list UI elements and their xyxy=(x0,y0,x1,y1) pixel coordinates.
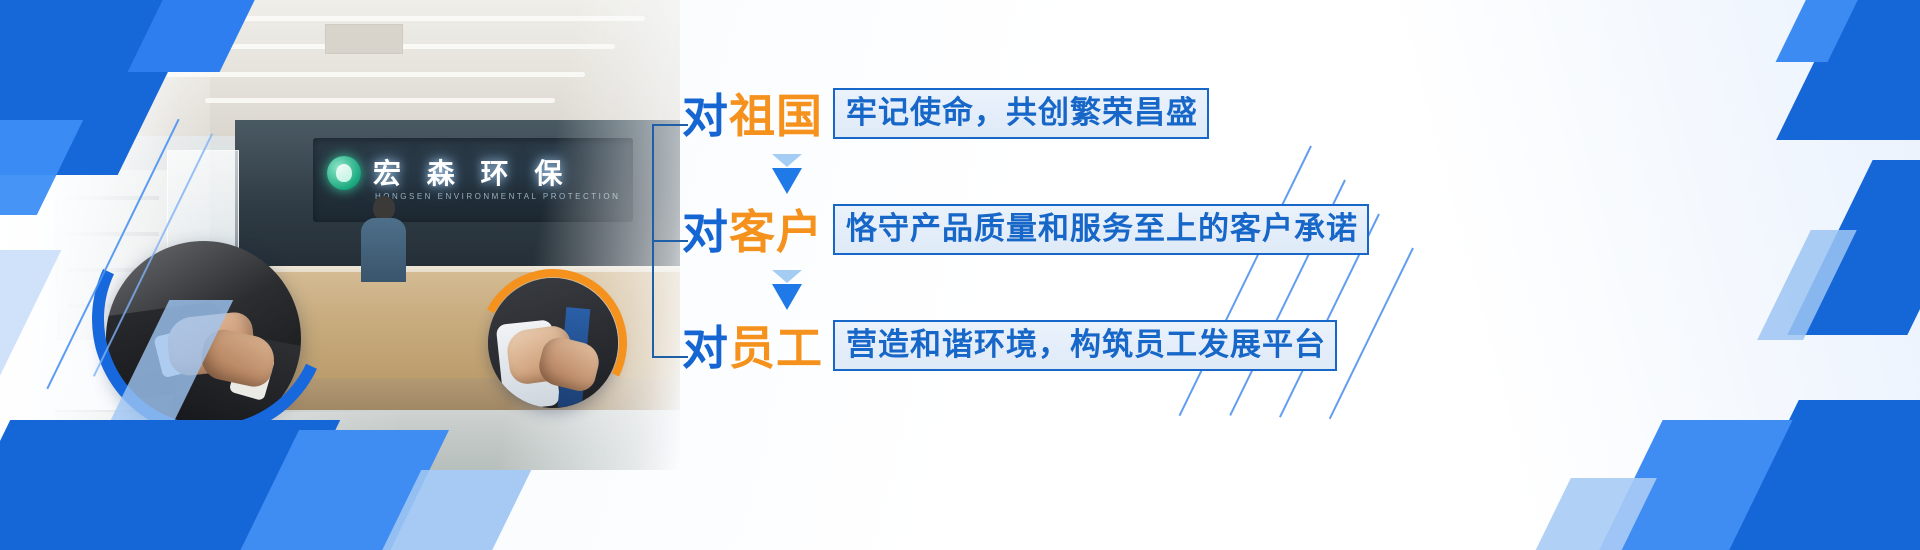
value-label-country: 对祖国 xyxy=(682,93,823,139)
value-phrase-employee: 营造和谐环境，构筑员工发展平台 xyxy=(833,320,1337,371)
value-phrase-customer: 恪守产品质量和服务至上的客户承诺 xyxy=(833,204,1369,255)
value-prefix: 对 xyxy=(682,322,729,374)
value-row-country: 对祖国 牢记使命，共创繁荣昌盛 xyxy=(682,88,1209,139)
company-logo-icon xyxy=(327,156,361,190)
ceiling-light-strip xyxy=(205,98,555,103)
value-object: 员工 xyxy=(729,322,823,374)
value-row-customer: 对客户 恪守产品质量和服务至上的客户承诺 xyxy=(682,204,1369,255)
ceiling-light-strip xyxy=(165,72,585,77)
value-prefix: 对 xyxy=(682,206,729,258)
values-list: 对祖国 牢记使命，共创繁荣昌盛 对客户 恪守产品质量和服务至上的客户承诺 对员工… xyxy=(652,78,1392,398)
value-row-employee: 对员工 营造和谐环境，构筑员工发展平台 xyxy=(682,320,1337,371)
value-prefix: 对 xyxy=(682,90,729,142)
company-name-sign: 宏 森 环 保 xyxy=(373,152,623,192)
value-label-employee: 对员工 xyxy=(682,325,823,371)
ceiling-vent xyxy=(325,24,403,54)
company-values-banner: 宏 森 环 保 HONGSEN ENVIRONMENTAL PROTECTION xyxy=(0,0,1920,550)
value-phrase-country: 牢记使命，共创繁荣昌盛 xyxy=(833,88,1209,139)
value-label-customer: 对客户 xyxy=(682,209,823,255)
receptionist xyxy=(355,196,411,282)
value-object: 客户 xyxy=(729,206,823,258)
value-object: 祖国 xyxy=(729,90,823,142)
